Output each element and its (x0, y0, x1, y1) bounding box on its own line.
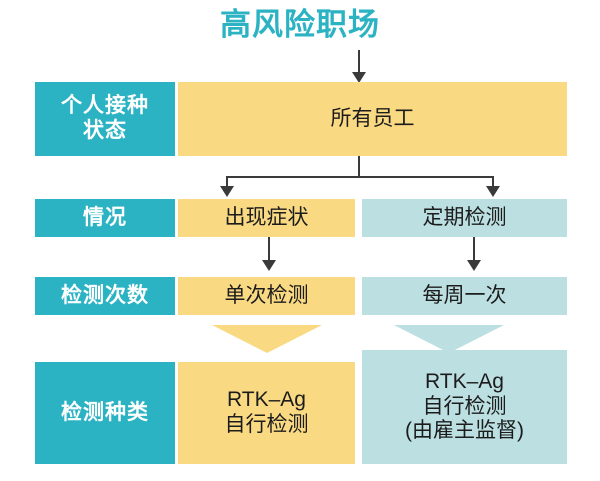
row-label-test-frequency: 检测次数 (35, 277, 175, 315)
row-label-vaccination-status-text: 个人接种 状态 (35, 94, 175, 144)
connector-symptomatic-to-single-arrowhead (262, 260, 276, 271)
cell-all-employees-text: 所有员工 (331, 107, 415, 132)
cell-single-test: 单次检测 (178, 277, 355, 315)
cell-weekly-test-text: 每周一次 (423, 284, 507, 309)
cell-rtk-ag-self-test-supervised: RTK–Ag 自行检测 (由雇主监督) (362, 350, 567, 464)
row-label-test-type: 检测种类 (35, 362, 175, 464)
connector-branch-crossbar (226, 176, 494, 178)
cell-periodic-testing: 定期检测 (362, 199, 567, 237)
wedge-single-test-to-rtk (212, 325, 322, 353)
cell-single-test-text: 单次检测 (225, 284, 309, 309)
cell-rtk-ag-self-test-supervised-text: RTK–Ag 自行检测 (由雇主监督) (405, 370, 524, 444)
cell-rtk-ag-self-test-text: RTK–Ag 自行检测 (225, 388, 309, 438)
connector-branch-left-arrowhead (220, 186, 234, 197)
cell-rtk-ag-self-test: RTK–Ag 自行检测 (178, 362, 355, 464)
row-label-vaccination-status: 个人接种 状态 (35, 82, 175, 156)
row-label-situation: 情况 (35, 199, 175, 237)
cell-symptomatic: 出现症状 (178, 199, 355, 237)
connector-periodic-to-weekly-arrowhead (467, 260, 481, 271)
flowchart-diagram: 高风险职场 个人接种 状态 所有员工 情况 出现症状 定期检测 检测次数 单次检… (0, 0, 600, 481)
cell-symptomatic-text: 出现症状 (225, 206, 309, 231)
chart-title: 高风险职场 (0, 6, 600, 44)
row-label-test-type-text: 检测种类 (35, 401, 175, 426)
row-label-test-frequency-text: 检测次数 (35, 284, 175, 309)
cell-weekly-test: 每周一次 (362, 277, 567, 315)
wedge-weekly-test-to-rtk (394, 325, 504, 353)
cell-periodic-testing-text: 定期检测 (423, 206, 507, 231)
connector-branch-right-arrowhead (486, 186, 500, 197)
connector-branch-stem (358, 156, 360, 177)
row-label-situation-text: 情况 (35, 206, 175, 231)
cell-all-employees: 所有员工 (178, 82, 567, 156)
